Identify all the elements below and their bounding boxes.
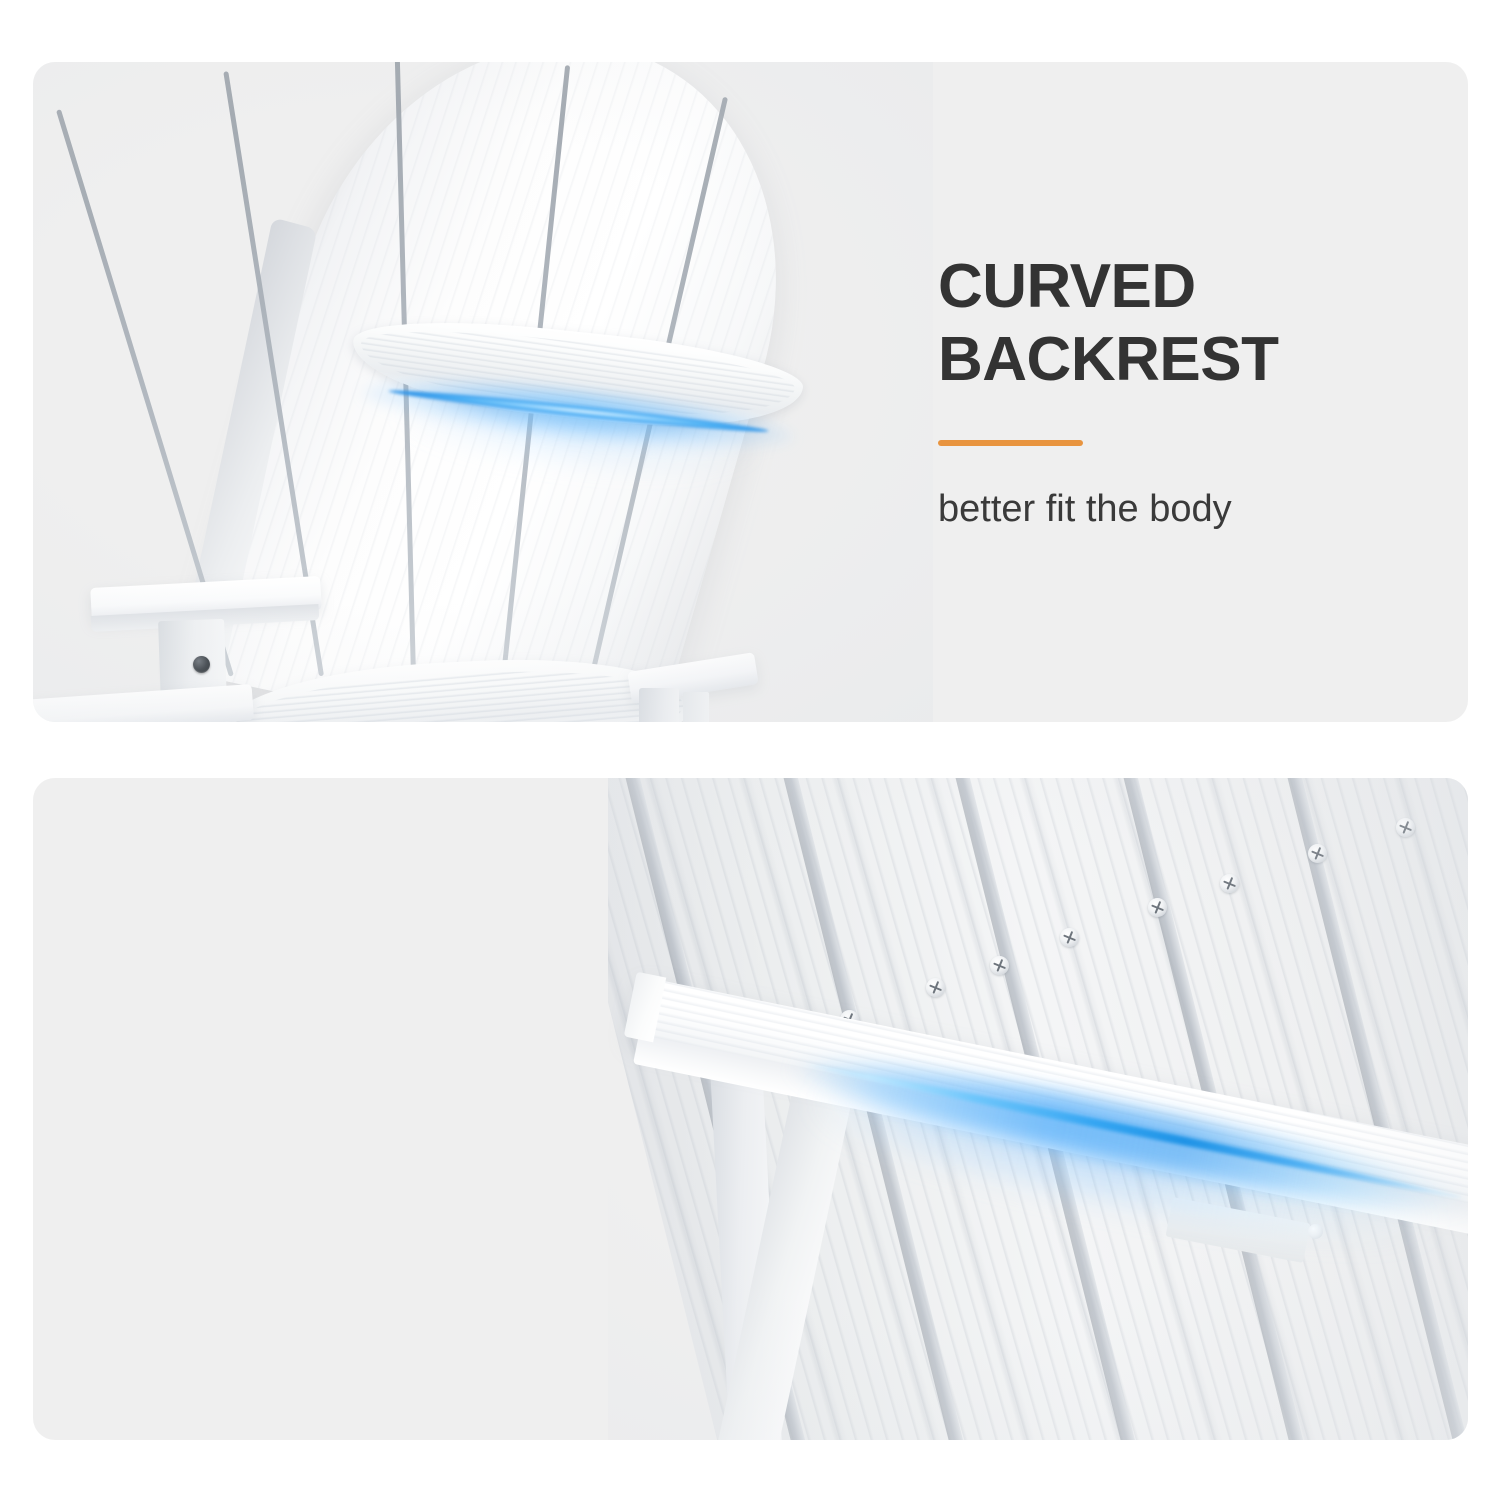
photo-wide-armrest (608, 778, 1468, 1440)
screw-head (1308, 1224, 1323, 1239)
product-feature-collage: CURVED BACKREST better fit the body (0, 0, 1500, 1500)
right-rear-post (683, 692, 709, 722)
screw-head (1060, 928, 1079, 947)
right-armrest-support-post (639, 688, 679, 722)
accent-rule (938, 440, 1083, 446)
screw-head (1220, 874, 1239, 893)
screw-head (1148, 898, 1167, 917)
screw-head (926, 978, 945, 997)
screw-head (1396, 818, 1415, 837)
screw-head (990, 956, 1009, 975)
feature-panel-curved-backrest: CURVED BACKREST better fit the body (33, 62, 1468, 722)
feature-headline: CURVED BACKREST (938, 250, 1438, 396)
feature-text-curved-backrest: CURVED BACKREST better fit the body (938, 250, 1438, 534)
feature-panel-wide-armrests: WIDE ARMRESTS for better arm relaxation (33, 778, 1468, 1440)
photo-curved-backrest (33, 62, 933, 722)
left-lower-armrest (33, 684, 254, 722)
screw-head (1308, 844, 1327, 863)
bolt-head (193, 656, 210, 673)
feature-subtitle: better fit the body (938, 486, 1438, 534)
